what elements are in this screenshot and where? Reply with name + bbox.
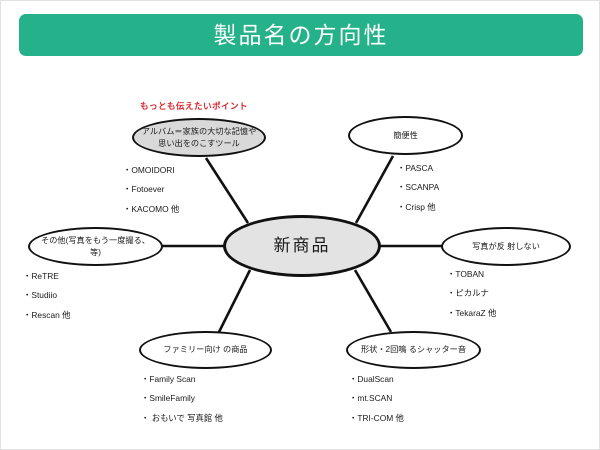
list-item: ・Fotoever: [123, 185, 179, 193]
list-item: ・TRI-COM 他: [349, 414, 404, 422]
node-branch-point-label: アルバム＝家族の大切な記憶や 思い出をのこすツール: [136, 126, 263, 150]
list-item: ・ おもいで 写真館 他: [141, 414, 223, 422]
list-item: ・OMOIDORI: [123, 166, 179, 174]
node-branch-convenience[interactable]: 簡便性: [348, 116, 463, 155]
node-branch-shape-label: 形状・2回鳴 るシャッター音: [355, 344, 472, 356]
node-branch-family[interactable]: ファミリー向け の商品: [139, 331, 272, 369]
bullet-list-point: ・OMOIDORI ・Fotoever ・KACOMO 他: [123, 166, 179, 224]
list-item: ・mt.SCAN: [349, 394, 404, 402]
connector-to-family: [219, 270, 250, 332]
list-item: ・TekaraZ 他: [447, 309, 496, 317]
bullet-list-other: ・ReTRE ・Studiio ・Rescan 他: [23, 272, 70, 330]
list-item: ・PASCA: [397, 164, 439, 172]
node-center-label: 新商品: [268, 234, 337, 259]
bullet-list-family: ・Family Scan ・SmileFamily ・ おもいで 写真館 他: [141, 375, 223, 433]
list-item: ・ReTRE: [23, 272, 70, 280]
node-branch-no-reflection-label: 写真が反 射しない: [466, 241, 546, 253]
callout-most-important-point: もっとも伝えたいポイント: [140, 100, 248, 112]
node-branch-no-reflection[interactable]: 写真が反 射しない: [441, 227, 571, 266]
bullet-list-convenience: ・PASCA ・SCANPA ・Crisp 他: [397, 164, 439, 222]
node-branch-other-label: その他(写真をもう一度撮る、等): [30, 235, 161, 259]
list-item: ・ピカルナ: [447, 289, 496, 297]
list-item: ・Crisp 他: [397, 203, 439, 211]
list-item: ・Family Scan: [141, 375, 223, 383]
list-item: ・KACOMO 他: [123, 205, 179, 213]
node-branch-convenience-label: 簡便性: [387, 130, 424, 142]
connector-to-point: [206, 158, 248, 223]
list-item: ・SmileFamily: [141, 394, 223, 402]
list-item: ・Studiio: [23, 291, 70, 299]
connector-to-convenience: [356, 156, 393, 223]
list-item: ・TOBAN: [447, 270, 496, 278]
bullet-list-no-reflection: ・TOBAN ・ピカルナ ・TekaraZ 他: [447, 270, 496, 328]
list-item: ・DualScan: [349, 375, 404, 383]
node-center-new-product[interactable]: 新商品: [223, 215, 381, 277]
bullet-list-shape: ・DualScan ・mt.SCAN ・TRI-COM 他: [349, 375, 404, 433]
node-branch-other[interactable]: その他(写真をもう一度撮る、等): [28, 227, 163, 266]
slide-canvas: 製品名の方向性 もっとも伝えたいポイント 新商品 アルバム＝家族の大切な記憶や …: [0, 0, 600, 450]
node-branch-point[interactable]: アルバム＝家族の大切な記憶や 思い出をのこすツール: [132, 118, 266, 157]
connector-to-shape: [355, 270, 391, 332]
node-branch-shape[interactable]: 形状・2回鳴 るシャッター音: [346, 331, 481, 369]
list-item: ・Rescan 他: [23, 311, 70, 319]
node-branch-family-label: ファミリー向け の商品: [157, 344, 253, 356]
list-item: ・SCANPA: [397, 183, 439, 191]
